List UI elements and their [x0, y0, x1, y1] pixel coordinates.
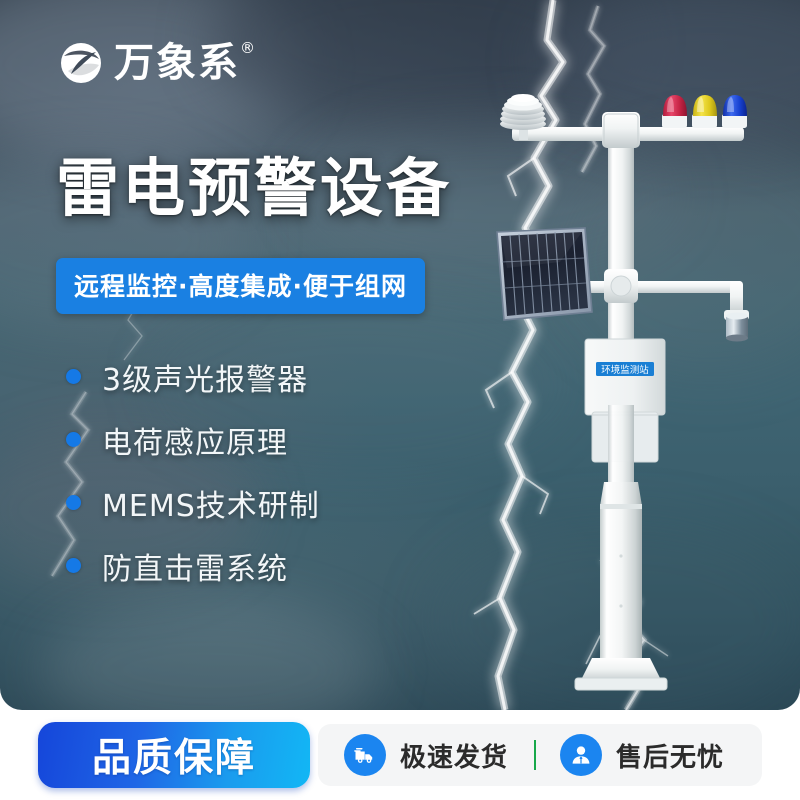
list-item: 电荷感应原理: [66, 408, 320, 471]
cloud-blob: [210, 0, 630, 130]
enclosure-label-text: 环境监测站: [601, 364, 649, 376]
trademark-symbol: ®: [240, 41, 257, 56]
radiation-shield-sensor: [500, 94, 546, 140]
subtitle-banner-text: 远程监控·高度集成·便于组网: [74, 272, 407, 301]
bullet-dot-icon: [66, 558, 81, 573]
quality-badge-label: 品质保障: [92, 727, 256, 783]
alarm-light-yellow: [692, 95, 717, 128]
service-label: 极速发货: [400, 737, 508, 774]
bullet-dot-icon: [66, 369, 81, 384]
top-crossbar: [512, 112, 744, 148]
brand-logo: 万象系®: [58, 40, 240, 86]
globe-swoosh-icon: [58, 40, 104, 86]
bullet-dot-icon: [66, 432, 81, 447]
brand-name-text: 万象系®: [114, 43, 240, 83]
list-item: 3级声光报警器: [66, 345, 320, 408]
quality-badge[interactable]: 品质保障: [38, 722, 310, 788]
hero-image-area: 环境监测站: [0, 0, 800, 710]
enclosure-box: 环境监测站: [585, 339, 665, 465]
feature-label: 防直击雷系统: [102, 544, 288, 588]
list-item: 防直击雷系统: [66, 534, 320, 597]
solar-panel: [497, 228, 592, 320]
alarm-light-red: [662, 95, 687, 128]
feature-label: MEMS技术研制: [102, 481, 320, 525]
brand-name-label: 万象系: [114, 40, 240, 86]
feature-label: 电荷感应原理: [102, 418, 288, 462]
lower-pole: [600, 462, 642, 662]
page-title: 雷电预警设备: [56, 156, 452, 223]
product-banner-page: 环境监测站: [0, 0, 800, 800]
service-divider: [534, 740, 536, 770]
customer-service-person-icon: [560, 734, 602, 776]
pole-base-plate: [575, 658, 667, 690]
delivery-truck-icon: [344, 734, 386, 776]
cloud-blob: [540, 0, 800, 140]
subtitle-banner: 远程监控·高度集成·便于组网: [56, 258, 425, 314]
bullet-dot-icon: [66, 495, 81, 510]
service-label: 售后无忧: [616, 737, 724, 774]
service-fast-shipping[interactable]: 极速发货: [344, 734, 508, 776]
feature-label: 3级声光报警器: [102, 355, 308, 399]
feature-list: 3级声光报警器 电荷感应原理 MEMS技术研制 防直击雷系统: [66, 345, 320, 597]
cloud-blob: [560, 140, 800, 380]
cloud-blob: [430, 520, 800, 710]
footer-bar: 品质保障 极速发货: [0, 712, 800, 800]
boom-sensor-arm: [724, 281, 749, 342]
service-after-sales[interactable]: 售后无忧: [560, 734, 724, 776]
cloud-blob: [40, 600, 380, 710]
alarm-light-blue: [722, 95, 747, 128]
list-item: MEMS技术研制: [66, 471, 320, 534]
mid-crossbar: [570, 269, 742, 303]
service-highlights: 极速发货 售后无忧: [318, 724, 762, 786]
